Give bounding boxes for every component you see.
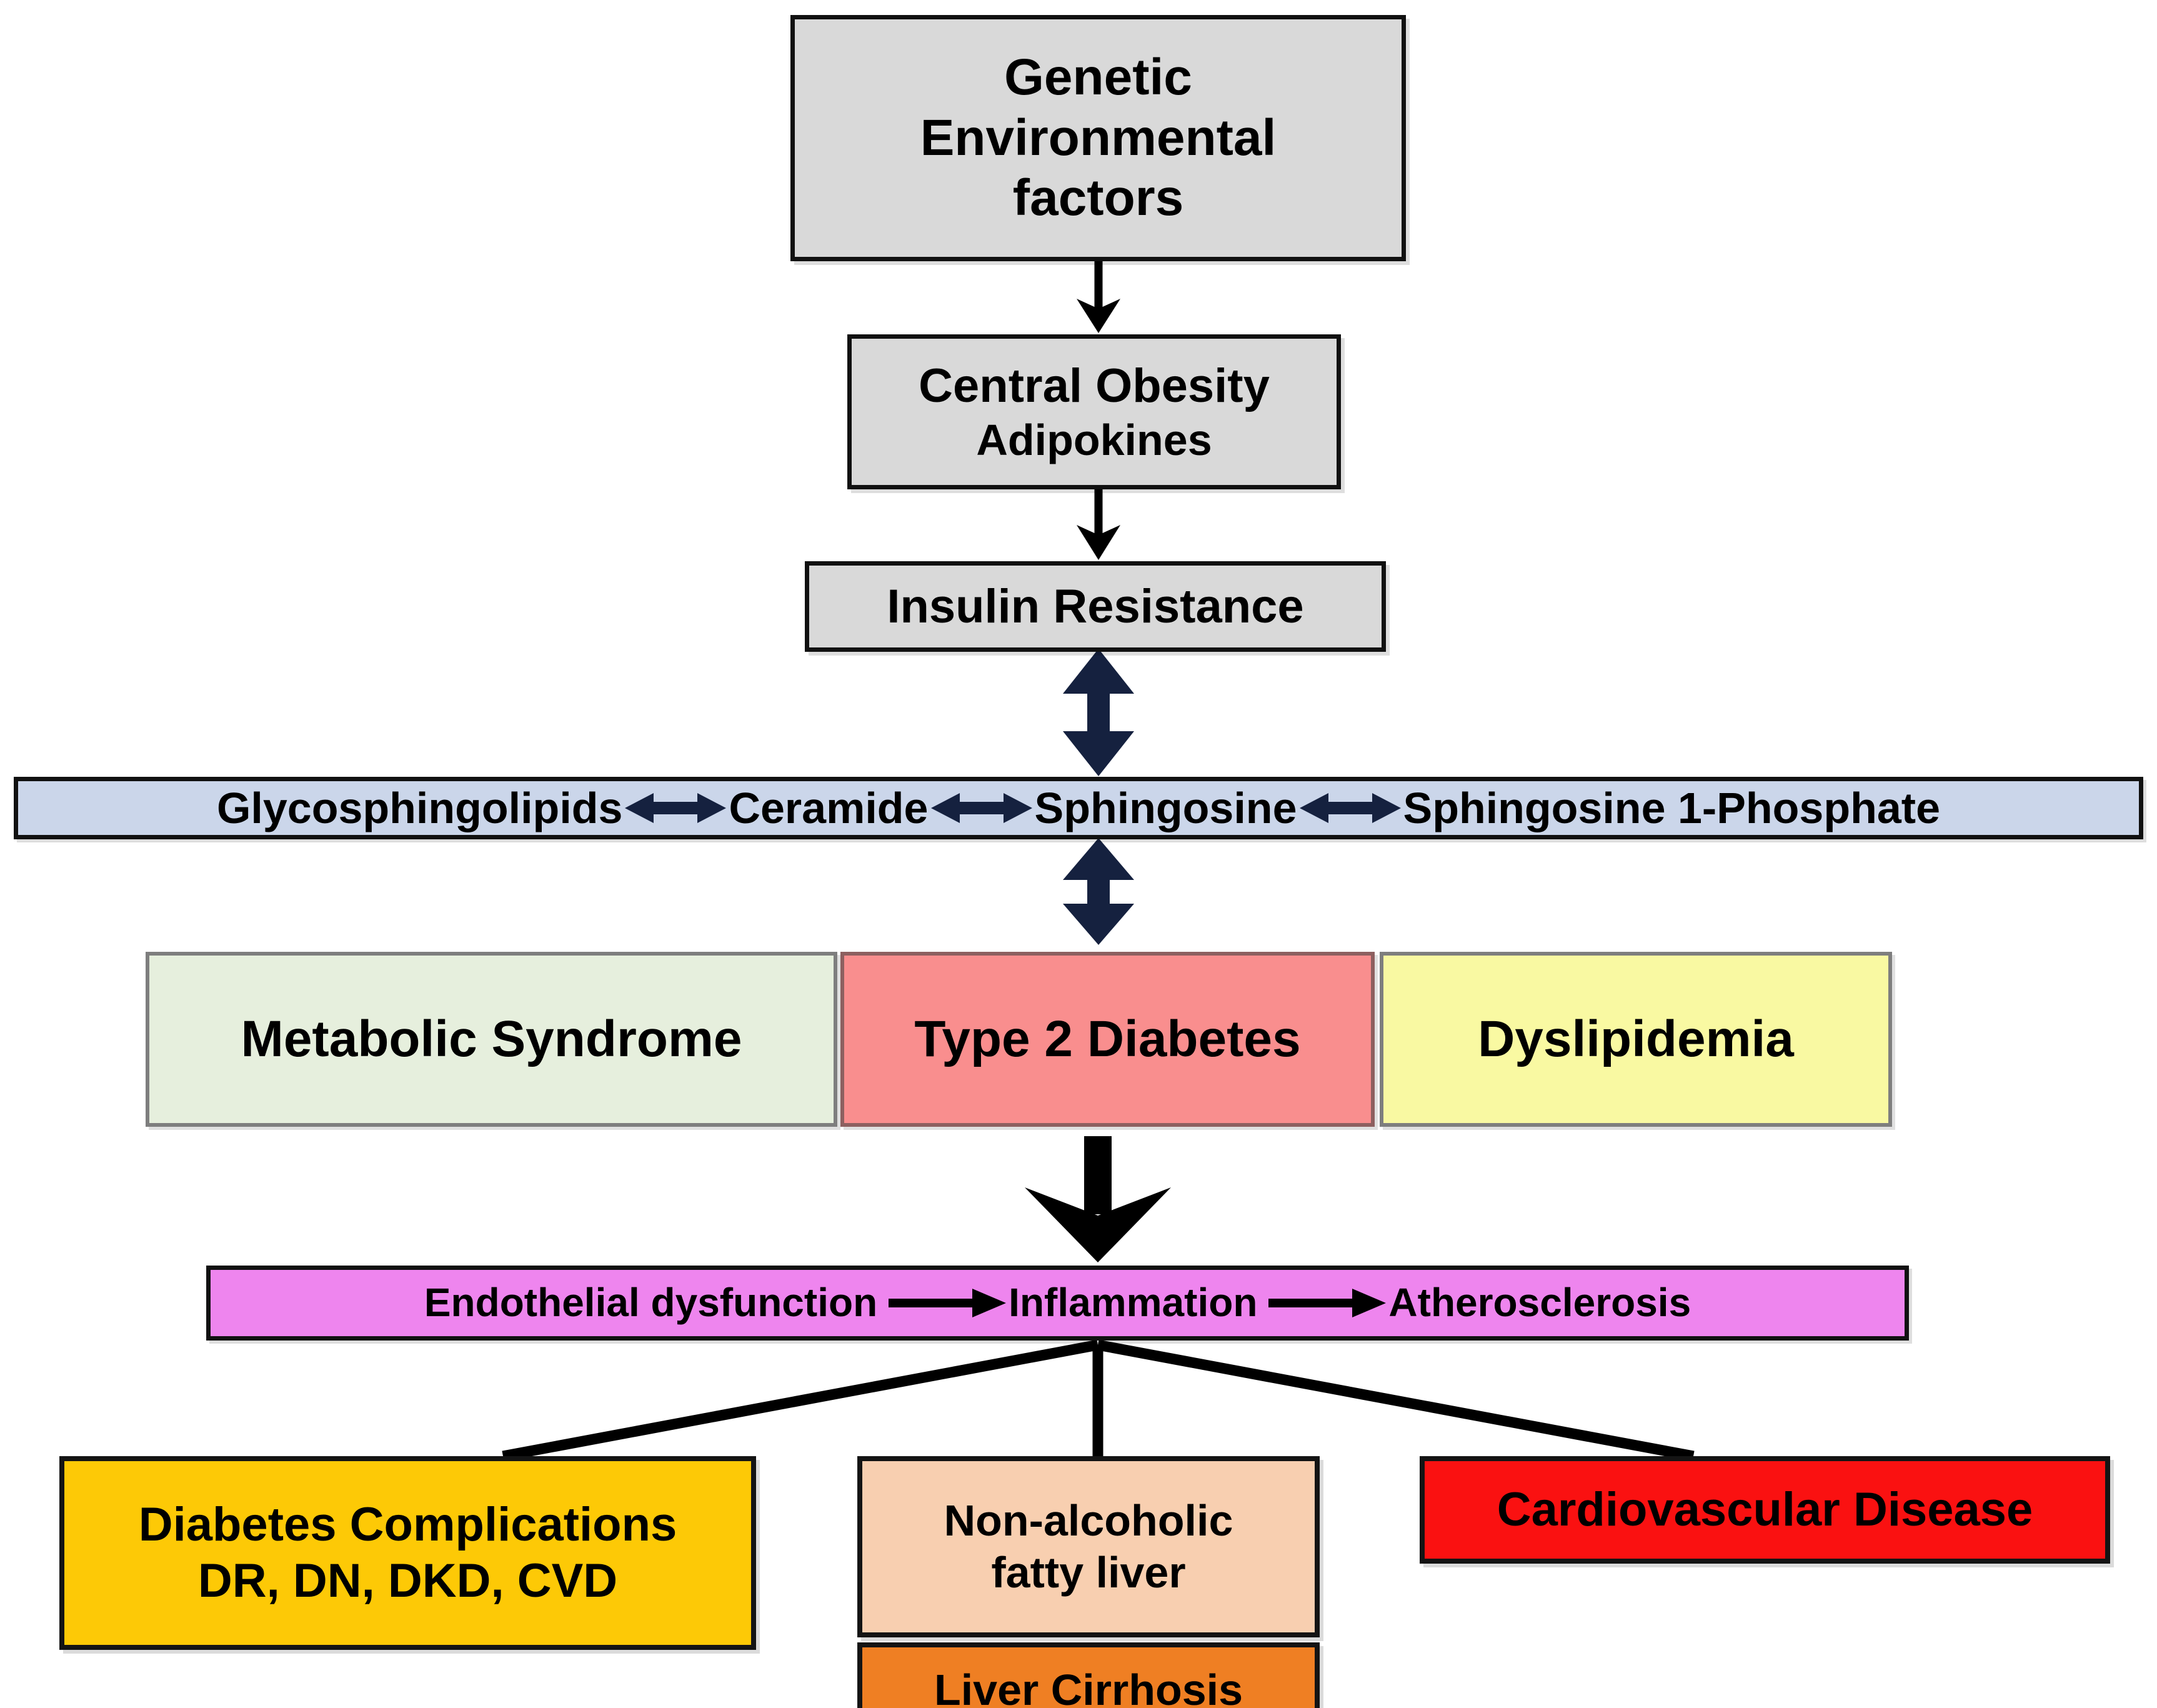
obesity-line-2: Adipokines: [976, 414, 1212, 466]
arrow-genetic-to-obesity: [1077, 261, 1120, 333]
flowchart-canvas: Genetic Environmental factors Central Ob…: [0, 0, 2157, 1708]
pathway-node-sphingosine-1-phosphate: Sphingosine 1-Phosphate: [1403, 782, 1941, 834]
type-2-diabetes-label: Type 2 Diabetes: [914, 1009, 1300, 1070]
obesity-line-1: Central Obesity: [919, 358, 1270, 414]
branch-lines-to-outcomes: [503, 1345, 1693, 1456]
arrow-obesity-to-insulin: [1077, 489, 1120, 560]
node-liver-cirrhosis[interactable]: Liver Cirrhosis: [857, 1642, 1320, 1708]
node-central-obesity-adipokines[interactable]: Central Obesity Adipokines: [847, 334, 1341, 489]
node-sphingolipid-pathway-bar[interactable]: Glycosphingolipids Ceramide Sphingosine: [14, 777, 2143, 839]
node-inflammation-pathway-bar[interactable]: Endothelial dysfunction Inflammation Ath…: [206, 1266, 1909, 1341]
node-genetic-environmental-factors[interactable]: Genetic Environmental factors: [790, 15, 1406, 261]
node-diabetes-complications[interactable]: Diabetes Complications DR, DN, DKD, CVD: [59, 1456, 756, 1650]
right-arrow-icon-2: [1257, 1286, 1388, 1321]
double-arrow-sphingolipid-disease: [1063, 838, 1134, 945]
node-type-2-diabetes[interactable]: Type 2 Diabetes: [840, 952, 1375, 1127]
double-arrow-icon-3: [1297, 788, 1403, 828]
dyslipidemia-label: Dyslipidemia: [1478, 1009, 1794, 1070]
metabolic-syndrome-label: Metabolic Syndrome: [241, 1009, 742, 1070]
pathway-node-atherosclerosis: Atherosclerosis: [1388, 1279, 1691, 1327]
genetic-line-1: Genetic: [1004, 47, 1192, 108]
node-cardiovascular-disease[interactable]: Cardiovascular Disease: [1420, 1456, 2110, 1564]
arrow-diabetes-to-endothelial: [1025, 1136, 1171, 1262]
double-arrow-icon-1: [622, 788, 729, 828]
right-arrow-icon-1: [877, 1286, 1009, 1321]
pathway-node-sphingosine: Sphingosine: [1035, 782, 1297, 834]
genetic-line-3: factors: [1013, 168, 1183, 229]
pathway-node-glycosphingolipids: Glycosphingolipids: [217, 782, 622, 834]
cardiovascular-disease-label: Cardiovascular Disease: [1497, 1482, 2033, 1538]
double-arrow-icon-2: [929, 788, 1035, 828]
node-dyslipidemia[interactable]: Dyslipidemia: [1380, 952, 1892, 1127]
genetic-line-2: Environmental: [920, 108, 1277, 169]
insulin-resistance-label: Insulin Resistance: [887, 579, 1303, 635]
pathway-node-ceramide: Ceramide: [729, 782, 928, 834]
liver-cirrhosis-label: Liver Cirrhosis: [934, 1664, 1243, 1708]
diabetes-complications-line-1: Diabetes Complications: [139, 1497, 677, 1553]
diabetes-complications-line-2: DR, DN, DKD, CVD: [198, 1553, 617, 1609]
double-arrow-insulin-sphingolipid: [1063, 649, 1134, 776]
node-metabolic-syndrome[interactable]: Metabolic Syndrome: [146, 952, 837, 1127]
pathway-node-endothelial-dysfunction: Endothelial dysfunction: [424, 1279, 877, 1327]
nafld-line-1: Non-alcoholic: [944, 1495, 1233, 1547]
node-non-alcoholic-fatty-liver[interactable]: Non-alcoholic fatty liver: [857, 1456, 1320, 1637]
pathway-node-inflammation: Inflammation: [1009, 1279, 1257, 1327]
nafld-line-2: fatty liver: [991, 1547, 1185, 1599]
node-insulin-resistance[interactable]: Insulin Resistance: [805, 561, 1386, 652]
